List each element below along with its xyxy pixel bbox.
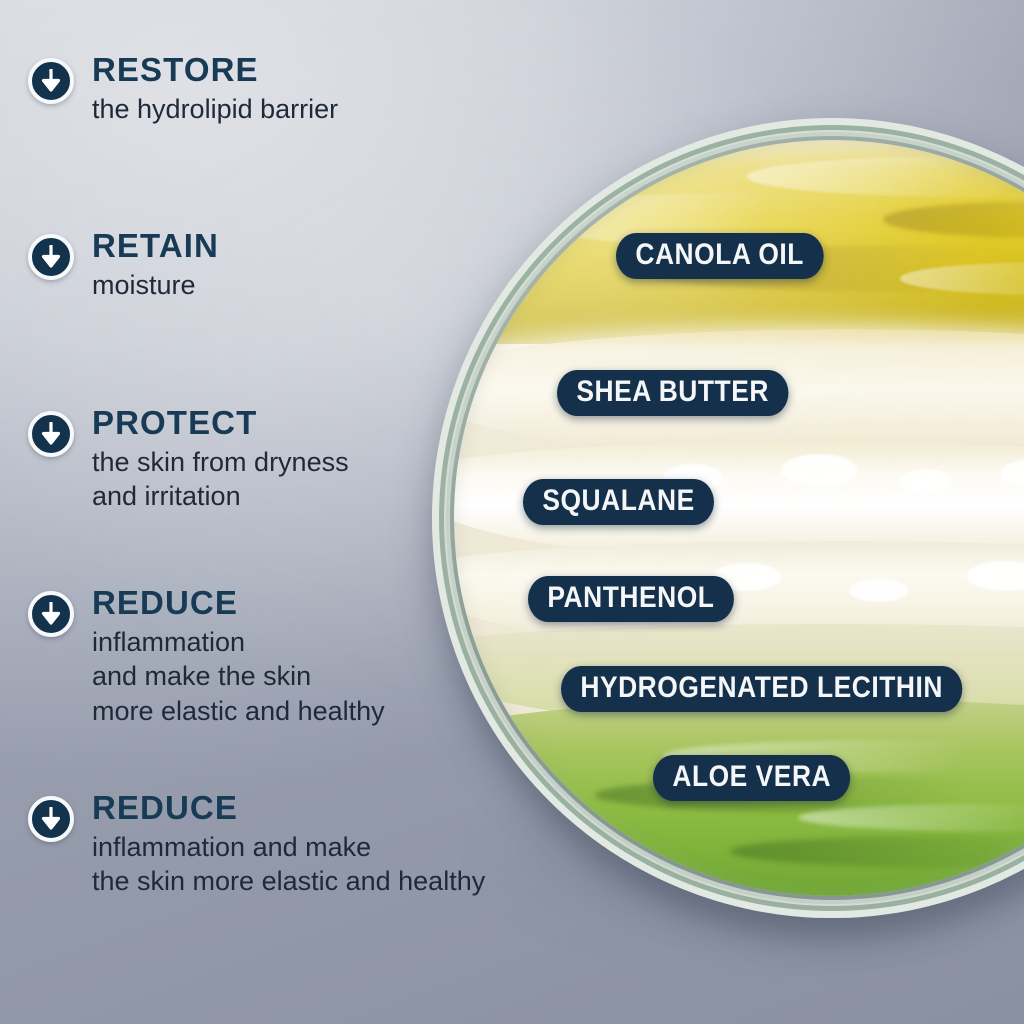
ingredient-label-panthenol: PANTHENOL [528,576,734,622]
benefit-title: RETAIN [92,228,219,264]
benefit-item-retain: RETAIN moisture [28,228,219,302]
ingredient-label-shea-butter: SHEA BUTTER [557,370,788,416]
infographic-canvas: RESTORE the hydrolipid barrier RETAIN mo… [0,0,1024,1024]
ingredient-label-hydrogenated-lecithin: HYDROGENATED LECITHIN [561,666,962,712]
benefit-item-reduce-1: REDUCE inflammation and make the skin mo… [28,585,385,728]
ingredient-label-aloe-vera: ALOE VERA [653,755,850,801]
benefit-item-restore: RESTORE the hydrolipid barrier [28,52,338,126]
ingredient-label-canola-oil: CANOLA OIL [616,233,823,279]
benefit-title: RESTORE [92,52,338,88]
benefit-text-block: RESTORE the hydrolipid barrier [92,52,338,126]
benefit-description: the hydrolipid barrier [92,92,338,127]
arrow-down-icon [28,591,74,637]
benefit-text-block: REDUCE inflammation and make the skin mo… [92,790,485,899]
benefit-title: REDUCE [92,790,485,826]
arrow-down-icon [28,796,74,842]
arrow-down-icon [28,411,74,457]
benefit-text-block: REDUCE inflammation and make the skin mo… [92,585,385,728]
benefit-description: inflammation and make the skin more elas… [92,625,385,729]
benefit-item-reduce-2: REDUCE inflammation and make the skin mo… [28,790,485,899]
benefit-item-protect: PROTECT the skin from dryness and irrita… [28,405,349,514]
benefit-description: moisture [92,268,219,303]
benefit-title: REDUCE [92,585,385,621]
arrow-down-icon [28,58,74,104]
benefit-text-block: RETAIN moisture [92,228,219,302]
arrow-down-icon [28,234,74,280]
benefit-description: inflammation and make the skin more elas… [92,830,485,899]
benefit-description: the skin from dryness and irritation [92,445,349,514]
benefit-title: PROTECT [92,405,349,441]
benefit-text-block: PROTECT the skin from dryness and irrita… [92,405,349,514]
ingredient-label-squalane: SQUALANE [523,479,714,525]
